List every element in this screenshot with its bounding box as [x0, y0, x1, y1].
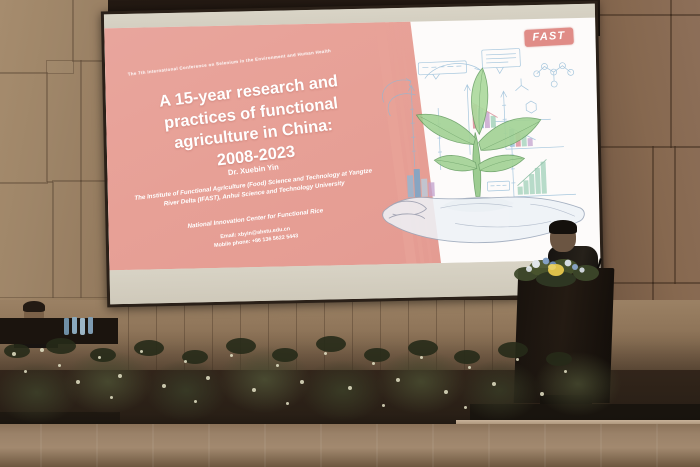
seated-attendee-hair [23, 301, 45, 312]
speaker-hair [549, 220, 577, 234]
conference-photo-scene: The 7th International Conference on Sele… [0, 0, 700, 467]
podium-flower-arrangement [512, 252, 604, 290]
presentation-slide: The 7th International Conference on Sele… [104, 18, 600, 271]
stage-front-panel [0, 424, 700, 467]
